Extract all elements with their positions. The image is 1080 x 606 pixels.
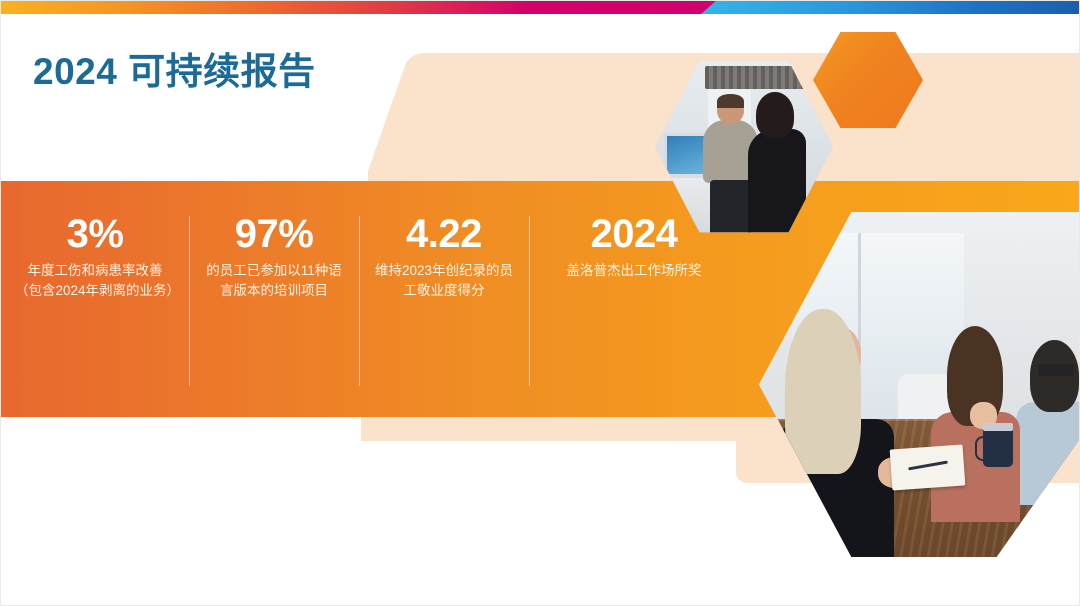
page-title: 2024 可持续报告 (33, 41, 316, 95)
metric-caption: 盖洛普杰出工作场所奖 (529, 261, 739, 281)
metric-item: 4.22 维持2023年创纪录的员工敬业度得分 (359, 181, 529, 300)
photo-a-person-female-hair (756, 92, 793, 138)
photo-a-person-male-hair (717, 94, 744, 108)
metric-caption: 的员工已参加以11种语言版本的培训项目 (189, 261, 359, 300)
photo-b-person-3-glasses (1038, 364, 1074, 376)
photo-b-person-1-hair (785, 309, 861, 475)
photo-b-person-3-hair (1030, 340, 1080, 412)
metric-item: 97% 的员工已参加以11种语言版本的培训项目 (189, 181, 359, 300)
metric-caption: 年度工伤和病患率改善（包含2024年剥离的业务） (1, 261, 189, 300)
photo-a-person-male-legs (710, 180, 751, 234)
metric-item: 3% 年度工伤和病患率改善（包含2024年剥离的业务） (1, 181, 189, 300)
photo-b-notebook (890, 444, 965, 490)
metric-value: 3% (1, 213, 189, 255)
metric-value: 4.22 (359, 213, 529, 255)
sustainability-report-slide: 2024 可持续报告 3% 年度工伤和病患率改善（包含2024年剥离的业务） 9… (0, 0, 1080, 606)
metric-value: 97% (189, 213, 359, 255)
photo-b-mug-lid (983, 423, 1013, 431)
photo-b-mug (983, 426, 1013, 467)
metric-caption: 维持2023年创纪录的员工敬业度得分 (359, 261, 529, 300)
